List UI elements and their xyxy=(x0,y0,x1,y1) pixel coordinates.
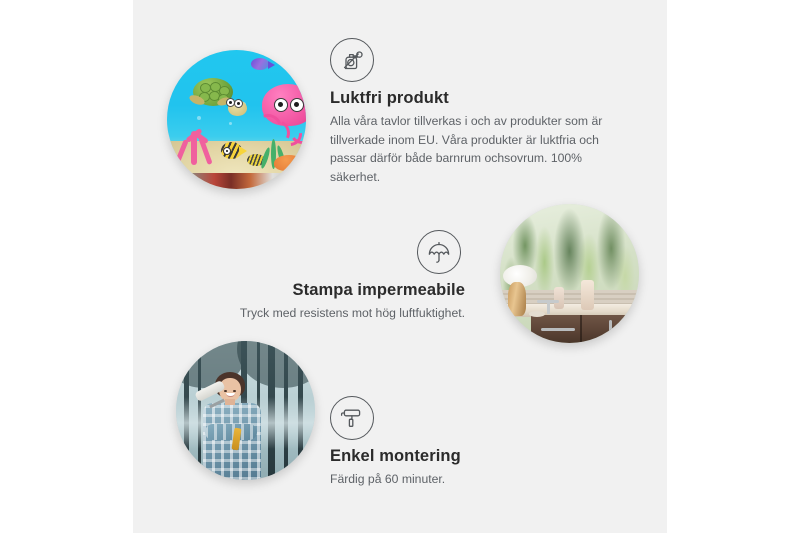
feature-title: Luktfri produkt xyxy=(330,89,630,108)
cabinet-handle xyxy=(609,320,612,343)
faucet-icon xyxy=(547,300,550,314)
forest-illustration xyxy=(176,341,315,480)
paint-roller-icon xyxy=(330,396,374,440)
feature-title: Enkel montering xyxy=(330,447,590,466)
purple-fish-illustration xyxy=(251,58,275,71)
feature-title: Stampa impermeabile xyxy=(215,281,465,300)
gold-vase xyxy=(508,282,526,316)
eye xyxy=(233,390,236,392)
feature-odour-free: Luktfri produkt Alla våra tavlor tillver… xyxy=(330,38,630,186)
smile xyxy=(226,393,235,397)
aquarium-illustration xyxy=(167,50,306,189)
no-perfume-icon xyxy=(330,38,374,82)
feature-description: Alla våra tavlor tillverkas i och av pro… xyxy=(330,112,622,186)
bubble-icon xyxy=(229,122,232,125)
photo-aquarium xyxy=(167,50,306,189)
drawer-handle xyxy=(541,328,575,331)
toiletry-bottle xyxy=(554,287,564,309)
wooden-vanity xyxy=(531,315,639,343)
yellow-fish-illustration xyxy=(221,142,247,160)
crab-illustration xyxy=(274,155,304,171)
feature-description: Färdig på 60 minuter. xyxy=(330,470,590,489)
feature-description: Tryck med resistens mot hög luftfuktighe… xyxy=(215,304,465,323)
bathroom-illustration xyxy=(500,204,639,343)
folded-arms xyxy=(205,424,257,440)
umbrella-icon xyxy=(417,230,461,274)
neck xyxy=(225,399,235,405)
octopus-illustration xyxy=(252,84,306,140)
photo-bathroom xyxy=(500,204,639,343)
turtle-eye xyxy=(234,99,243,108)
bubble-icon xyxy=(197,116,201,120)
photo-forest xyxy=(176,341,315,480)
turtle-eye xyxy=(226,98,235,107)
painter-woman xyxy=(201,372,267,480)
vanity-seam xyxy=(580,315,582,343)
turtle-illustration xyxy=(187,78,239,114)
aquarium-bottom-strip xyxy=(167,173,306,189)
octopus-eye xyxy=(274,98,288,112)
toiletry-bottle xyxy=(581,280,594,310)
eye xyxy=(224,390,227,392)
feature-easy-mounting: Enkel montering Färdig på 60 minuter. xyxy=(330,396,590,489)
pink-coral-illustration xyxy=(175,127,221,167)
feature-waterproof-print: Stampa impermeabile Tryck med resistens … xyxy=(215,230,465,323)
octopus-eye xyxy=(290,98,304,112)
promo-page: Luktfri produkt Alla våra tavlor tillver… xyxy=(0,0,800,533)
